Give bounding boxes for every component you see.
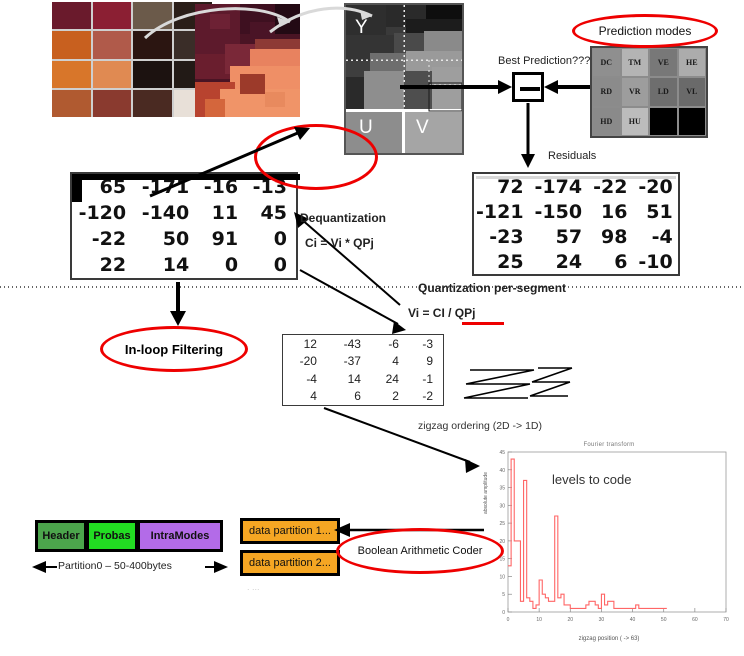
matrix-cell: -20: [283, 353, 327, 371]
chart-title: Fourier transform: [484, 442, 734, 448]
matrix-cell: 9: [409, 353, 443, 371]
inloop-filtering-ellipse: In-loop Filtering: [100, 326, 248, 372]
zigzag-scan-icon: [462, 362, 574, 408]
partition0-caption: Partition0 – 50-400bytes: [58, 560, 172, 572]
quantization-arrow: [290, 262, 470, 340]
prediction-modes-grid: DC TM VE HE RD VR LD VL HD HU: [590, 46, 708, 138]
inloop-arrow: [168, 282, 188, 328]
svg-text:35: 35: [499, 486, 505, 492]
svg-text:20: 20: [568, 617, 574, 623]
svg-text:0: 0: [507, 617, 510, 623]
boolean-coder-ellipse: Boolean Arithmetic Coder: [336, 528, 504, 574]
matrix-cell: 45: [247, 200, 296, 226]
svg-text:30: 30: [599, 617, 605, 623]
matrix-cell: 0: [247, 252, 296, 278]
inloop-filtering-label: In-loop Filtering: [125, 342, 223, 357]
partition0-header-box: Header: [35, 520, 87, 552]
data-partition-1-box: data partition 1...: [240, 518, 340, 544]
matrix-cell: -140: [135, 200, 198, 226]
matrix-cell: 98: [591, 224, 636, 249]
boolean-coder-label: Boolean Arithmetic Coder: [358, 545, 483, 557]
chart-x-axis-label: zigzag position ( -> 63): [484, 636, 734, 642]
subtract-arrows: [400, 60, 600, 180]
svg-text:20: 20: [499, 539, 505, 545]
pred-mode-cell: [649, 107, 678, 136]
chart-annotation: levels to code: [552, 472, 632, 487]
matrix-cell: -120: [72, 200, 135, 226]
reconstruction-arrow: [140, 120, 370, 200]
matrix-cell: -1: [409, 370, 443, 388]
entropy-coding-arrow: [320, 406, 490, 476]
matrix-cell: -22: [72, 226, 135, 252]
pred-mode-cell: HE: [678, 48, 707, 77]
matrix-cell: -4: [636, 224, 681, 249]
matrix-cell: 6: [327, 388, 371, 406]
svg-text:45: 45: [499, 450, 505, 456]
matrix-cell: 51: [636, 199, 681, 224]
qpj-underline: [462, 322, 504, 325]
matrix-cell: -10: [636, 249, 681, 274]
pred-mode-cell: [678, 107, 707, 136]
matrix-cell: 6: [591, 249, 636, 274]
svg-text:40: 40: [630, 617, 636, 623]
chart-y-axis-label: absolute amplitude: [483, 472, 489, 514]
matrix-cell: -121: [474, 199, 533, 224]
matrix-cell: -4: [283, 370, 327, 388]
matrix-cell: 4: [371, 353, 409, 371]
partitions-ellipsis: . ...: [247, 582, 260, 592]
matrix-cell: 24: [533, 249, 592, 274]
partition0-intramodes-box: IntraModes: [137, 520, 223, 552]
top-flow-arrows: [110, 0, 380, 50]
pred-mode-cell: VR: [621, 77, 650, 106]
matrix-cell: 0: [247, 226, 296, 252]
quantization-label: Quantization per-segment: [418, 281, 566, 295]
svg-text:30: 30: [499, 503, 505, 509]
svg-text:70: 70: [723, 617, 729, 623]
matrix-cell: 57: [533, 224, 592, 249]
svg-text:0: 0: [502, 610, 505, 616]
svg-text:40: 40: [499, 468, 505, 474]
pred-mode-cell: VE: [649, 48, 678, 77]
matrix-cell: 25: [474, 249, 533, 274]
matrix-cell: -23: [474, 224, 533, 249]
matrix-cell: 91: [198, 226, 247, 252]
matrix-cell: -37: [327, 353, 371, 371]
matrix-cell: 11: [198, 200, 247, 226]
pred-mode-cell: LD: [649, 77, 678, 106]
svg-text:10: 10: [499, 574, 505, 580]
pred-mode-cell: VL: [678, 77, 707, 106]
matrix-cell: -150: [533, 199, 592, 224]
pred-mode-cell: TM: [621, 48, 650, 77]
quantization-formula: Vi = CI / QPj: [408, 306, 475, 320]
matrix-cell: 0: [198, 252, 247, 278]
residuals-matrix: 72-174-22-20 -121-1501651 -235798-4 2524…: [472, 172, 680, 276]
matrix-cell: 24: [371, 370, 409, 388]
svg-text:5: 5: [502, 592, 505, 598]
svg-text:25: 25: [499, 521, 505, 527]
matrix-cell: 14: [327, 370, 371, 388]
matrix-cell: 50: [135, 226, 198, 252]
svg-text:10: 10: [536, 617, 542, 623]
matrix-cell: 16: [591, 199, 636, 224]
prediction-modes-ellipse: Prediction modes: [572, 14, 718, 48]
data-partition-2-box: data partition 2...: [240, 550, 340, 576]
quantized-levels-matrix: 12-43-6-3 -20-3749 -41424-1 462-2: [282, 334, 444, 406]
coefficient-histogram-chart: Fourier transform absolute amplitude zig…: [484, 444, 734, 640]
matrix-cell: 2: [371, 388, 409, 406]
matrix-cell: 14: [135, 252, 198, 278]
svg-text:50: 50: [661, 617, 667, 623]
partition0-probas-box: Probas: [86, 520, 138, 552]
pred-mode-cell: HU: [621, 107, 650, 136]
matrix-cell: 22: [72, 252, 135, 278]
dequantization-formula: Ci = Vi * QPj: [305, 236, 374, 250]
matrix-cell: 4: [283, 388, 327, 406]
svg-text:15: 15: [499, 557, 505, 563]
dequantization-label: Dequantization: [300, 211, 386, 225]
svg-text:60: 60: [692, 617, 698, 623]
prediction-modes-caption: Prediction modes: [599, 24, 692, 38]
matrix-cell: -2: [409, 388, 443, 406]
